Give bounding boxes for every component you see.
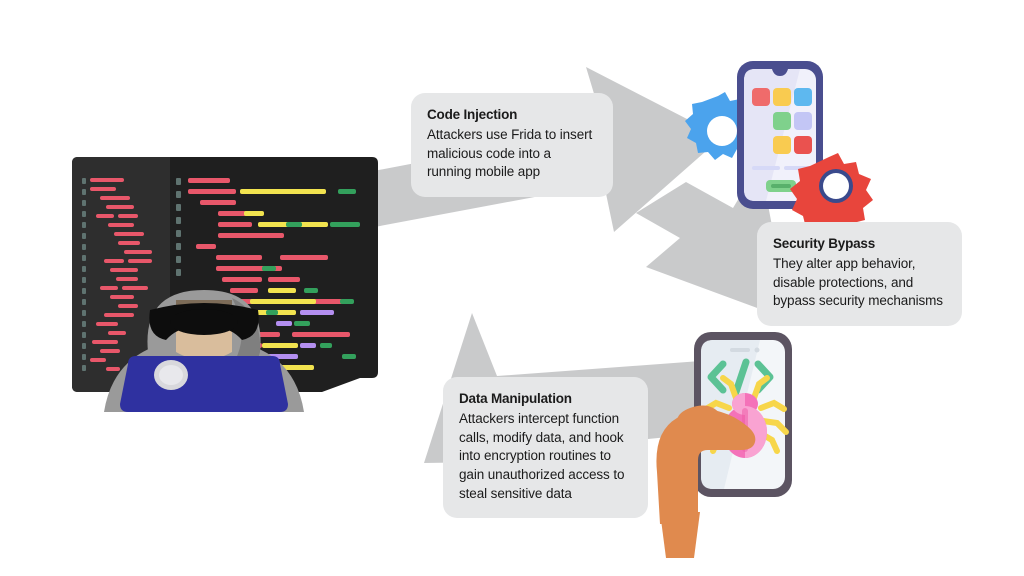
callout-code-injection: Code Injection Attackers use Frida to in…: [411, 93, 613, 197]
callout-security-bypass: Security Bypass They alter app behavior,…: [757, 222, 962, 326]
phone-camera-dot: [755, 348, 760, 353]
laptop-logo-inner: [159, 365, 183, 385]
app-tile: [794, 136, 812, 154]
app-primary-button-inner: [771, 184, 791, 188]
diagram-canvas: Code Injection Attackers use Frida to in…: [0, 0, 1024, 576]
callout-body: Attackers intercept function calls, modi…: [459, 410, 632, 503]
app-tile: [773, 136, 791, 154]
callout-body: Attackers use Frida to insert malicious …: [427, 126, 597, 182]
phone-with-bug-illustration: [656, 332, 792, 558]
hand-wrist: [660, 512, 700, 558]
callout-title: Code Injection: [427, 107, 597, 123]
app-tile: [752, 88, 770, 106]
callout-title: Security Bypass: [773, 236, 946, 252]
app-tile: [794, 112, 812, 130]
callout-title: Data Manipulation: [459, 391, 632, 407]
app-tile: [794, 88, 812, 106]
mobile-app-gears-illustration: [685, 61, 873, 236]
phone-speaker-slot: [730, 348, 750, 352]
hacker-workstation-illustration: [72, 157, 378, 412]
app-tile: [773, 112, 791, 130]
app-tile: [773, 88, 791, 106]
hacker-sunglasses: [170, 309, 238, 335]
callout-body: They alter app behavior, disable protect…: [773, 255, 946, 311]
app-content-line: [752, 166, 780, 170]
callout-data-manipulation: Data Manipulation Attackers intercept fu…: [443, 377, 648, 518]
laptop: [120, 356, 288, 412]
